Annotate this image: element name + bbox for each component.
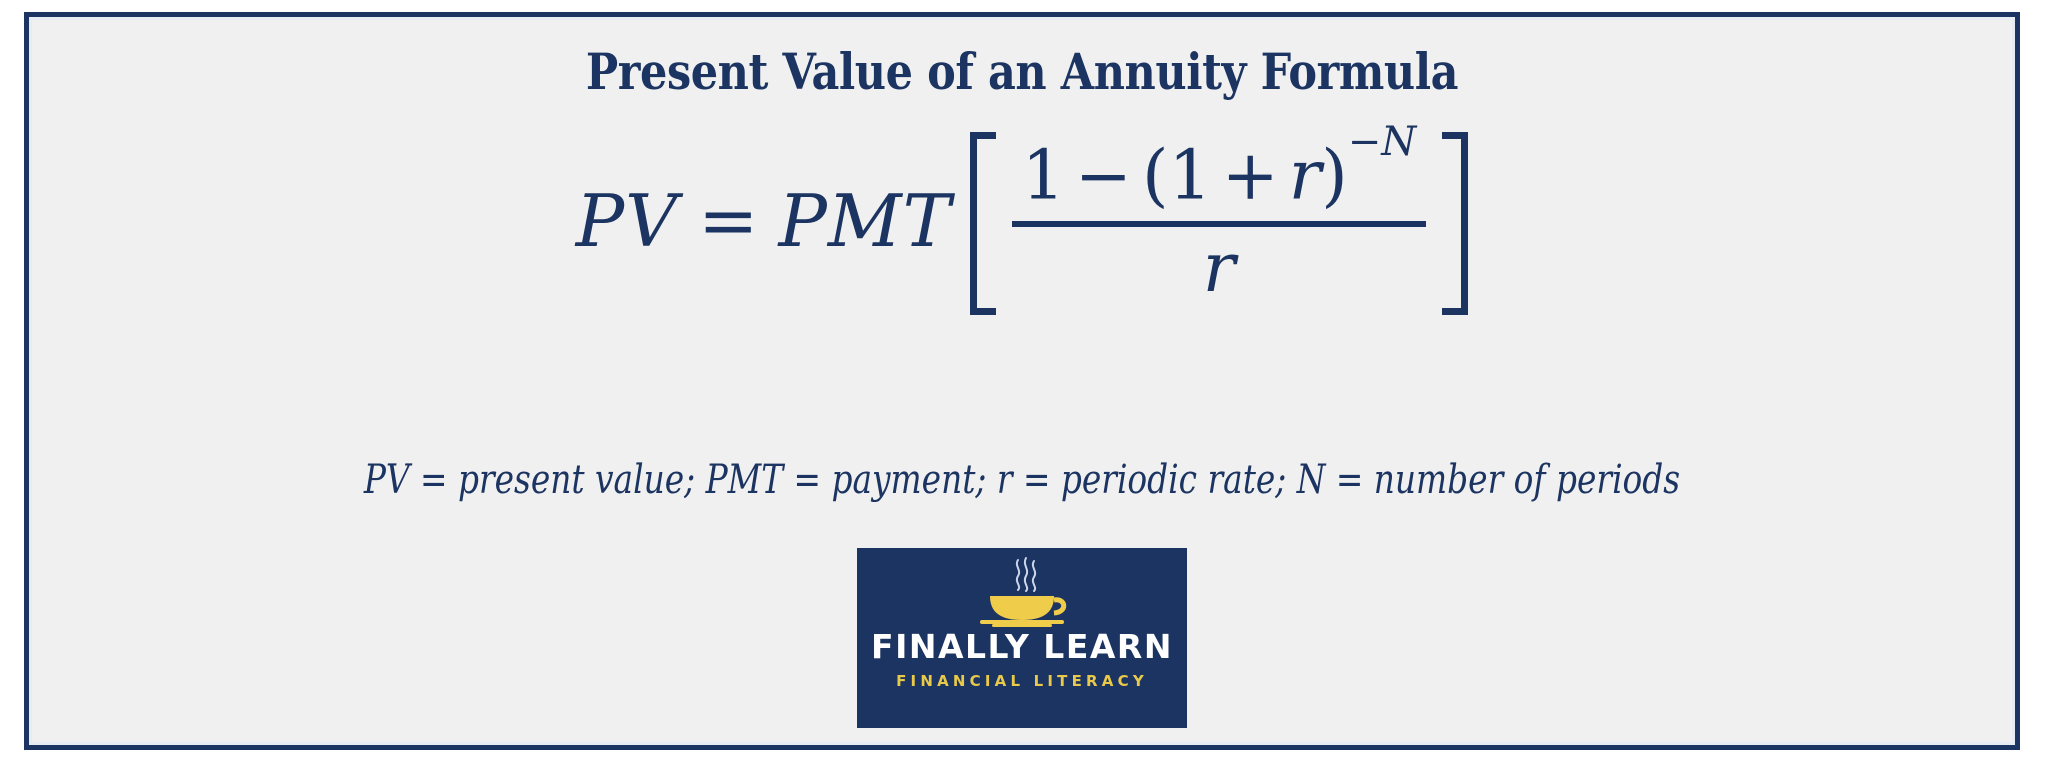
slide-canvas: Present Value of an Annuity Formula PV =… xyxy=(0,0,2048,777)
fraction-numerator: 1−(1+r)−N xyxy=(1012,136,1427,221)
brand-logo: FINALLY LEARN FINANCIAL LITERACY xyxy=(857,548,1187,728)
exponent-variable-n: N xyxy=(1381,119,1416,165)
numerator-paren-open: ( xyxy=(1142,137,1169,216)
logo-brand-name: FINALLY LEARN xyxy=(871,630,1173,663)
numerator-exponent: −N xyxy=(1348,119,1417,165)
numerator-rate-variable: r xyxy=(1289,137,1322,216)
variable-legend: PV = present value; PMT = payment; r = p… xyxy=(210,457,1834,503)
formula-equals-sign: = xyxy=(698,184,758,262)
slide-border-frame: Present Value of an Annuity Formula PV =… xyxy=(24,12,2020,750)
bracket-open-icon xyxy=(970,132,996,315)
slide-inner-border: Present Value of an Annuity Formula PV =… xyxy=(29,17,2015,745)
formula-lhs-pv: PV xyxy=(576,185,678,261)
page-title: Present Value of an Annuity Formula xyxy=(171,42,1874,101)
bracket-close-icon xyxy=(1442,132,1468,315)
formula-coefficient-pmt: PMT xyxy=(778,185,951,261)
slide-content: Present Value of an Annuity Formula PV =… xyxy=(32,20,2012,742)
formula-fraction: 1−(1+r)−N r xyxy=(996,132,1443,315)
numerator-inner-one: 1 xyxy=(1168,137,1211,216)
logo-tagline: FINANCIAL LITERACY xyxy=(896,674,1148,689)
numerator-one: 1 xyxy=(1022,137,1065,216)
coffee-cup-icon xyxy=(962,556,1082,628)
numerator-plus-sign: + xyxy=(1222,137,1279,216)
fraction-denominator: r xyxy=(1193,227,1246,311)
numerator-paren-close: ) xyxy=(1321,137,1348,216)
formula-bracket-group: 1−(1+r)−N r xyxy=(970,132,1469,315)
formula-display: PV = PMT 1−(1+r)−N r xyxy=(32,132,2012,315)
numerator-minus-sign: − xyxy=(1075,137,1132,216)
exponent-minus-sign: − xyxy=(1348,119,1382,165)
